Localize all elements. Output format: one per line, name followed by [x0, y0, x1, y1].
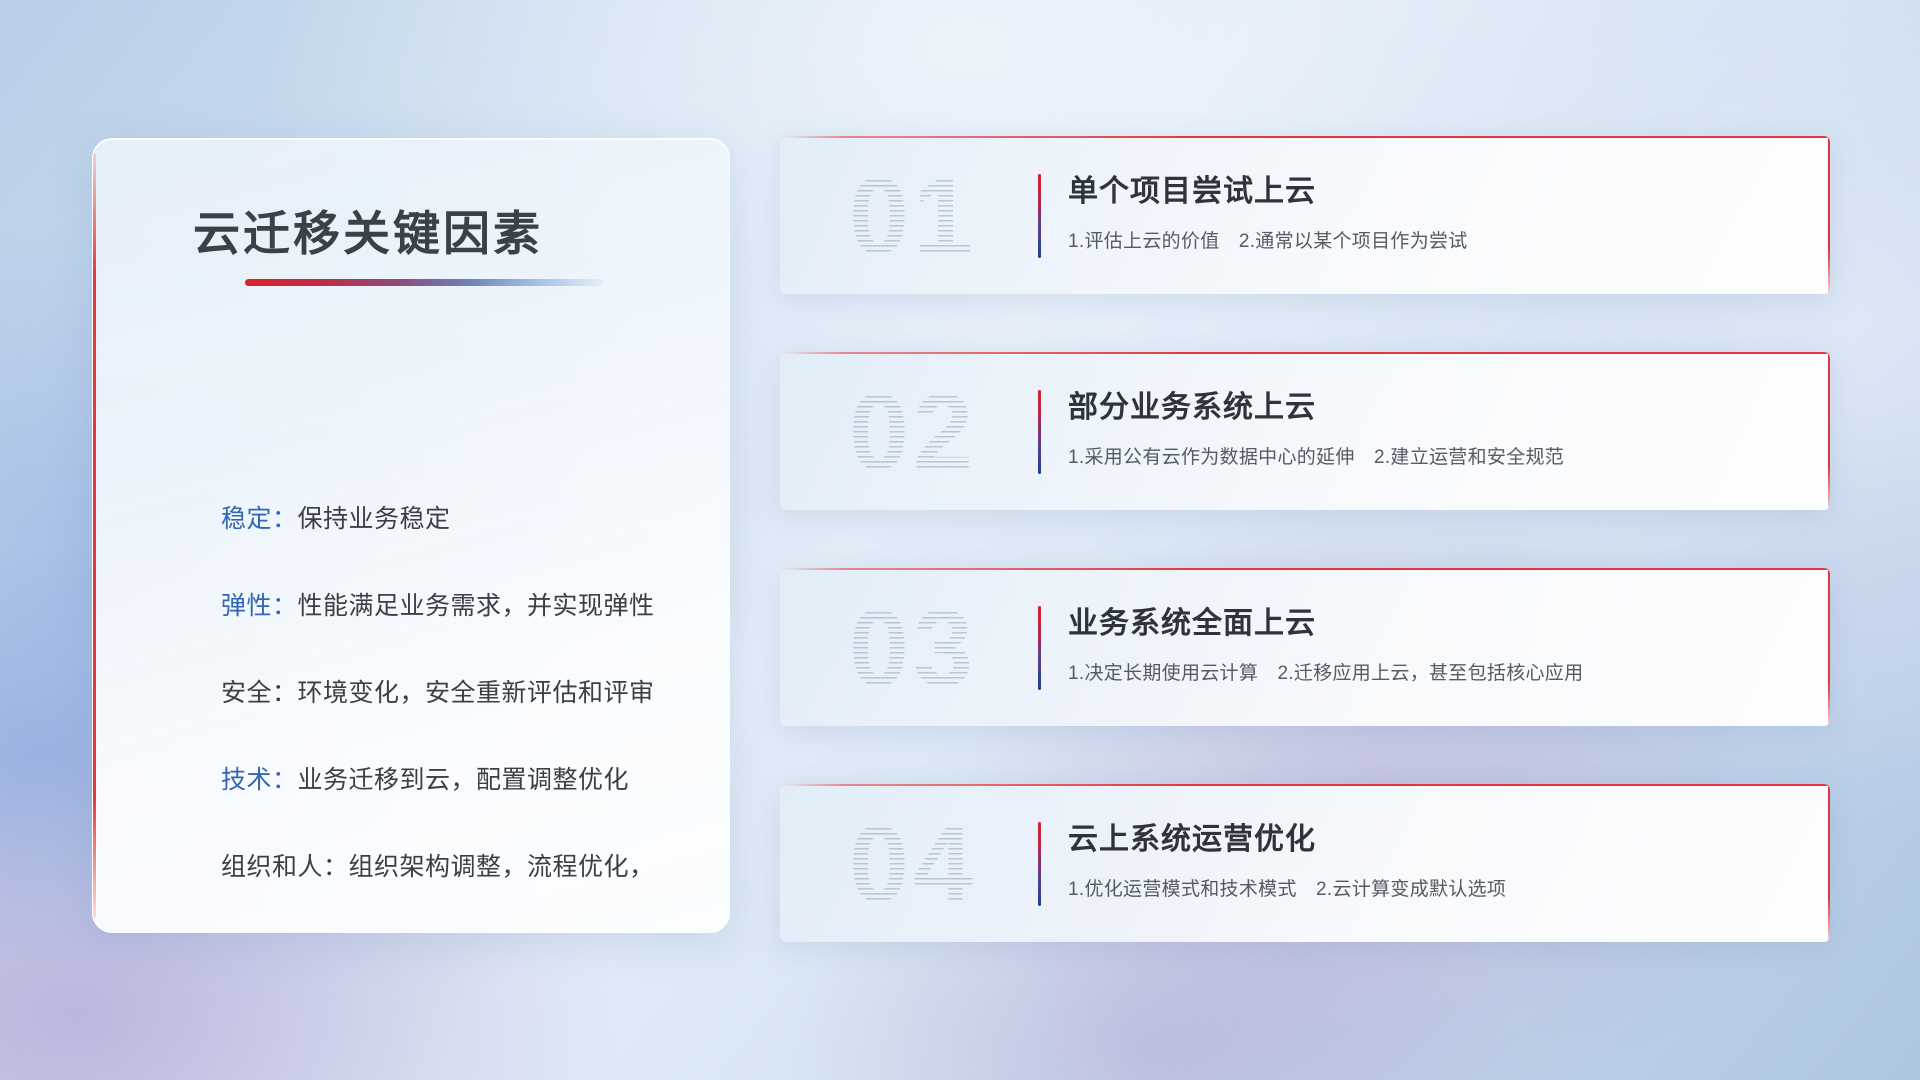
- key-factors-panel: 云迁移关键因素 稳定：保持业务稳定 弹性：性能满足业务需求，并实现弹性 安全：环…: [92, 138, 730, 933]
- stage-card: 02 部分业务系统上云 1.采用公有云作为数据中心的延伸 2.建立运营和安全规范: [780, 352, 1830, 510]
- stage-number: 03: [818, 582, 1008, 712]
- stage-divider-accent: [1038, 174, 1041, 258]
- stage-card-body: 云上系统运营优化 1.优化运营模式和技术模式 2.云计算变成默认选项: [1068, 814, 1790, 901]
- list-item-value: 保持业务稳定: [298, 505, 451, 533]
- stage-card: 04 云上系统运营优化 1.优化运营模式和技术模式 2.云计算变成默认选项: [780, 784, 1830, 942]
- stage-card-body: 业务系统全面上云 1.决定长期使用云计算 2.迁移应用上云，甚至包括核心应用: [1068, 598, 1790, 685]
- stage-title: 云上系统运营优化: [1068, 814, 1790, 858]
- stage-card: 03 业务系统全面上云 1.决定长期使用云计算 2.迁移应用上云，甚至包括核心应…: [780, 568, 1830, 726]
- stage-card: 01 单个项目尝试上云 1.评估上云的价值 2.通常以某个项目作为尝试: [780, 136, 1830, 294]
- list-item-value: 业务迁移到云，配置调整优化: [298, 766, 630, 794]
- stage-card-list: 01 单个项目尝试上云 1.评估上云的价值 2.通常以某个项目作为尝试 02 部…: [780, 136, 1830, 942]
- stage-title: 业务系统全面上云: [1068, 598, 1790, 642]
- stage-number: 02: [818, 366, 1008, 496]
- list-item: 安全：环境变化，安全重新评估和评审: [221, 681, 689, 706]
- stage-card-body: 部分业务系统上云 1.采用公有云作为数据中心的延伸 2.建立运营和安全规范: [1068, 382, 1790, 469]
- list-item-value: 环境变化，安全重新评估和评审: [298, 679, 655, 707]
- stage-number: 04: [818, 798, 1008, 928]
- stage-divider-accent: [1038, 606, 1041, 690]
- list-item-key: 弹性：: [221, 592, 298, 620]
- list-item: 组织和人：组织架构调整，流程优化，: [221, 855, 689, 880]
- list-item-key: 安全：: [221, 679, 298, 707]
- list-item-key: 稳定：: [221, 505, 298, 533]
- stage-description: 1.采用公有云作为数据中心的延伸 2.建立运营和安全规范: [1068, 442, 1790, 469]
- page-title: 云迁移关键因素: [193, 195, 543, 264]
- key-factors-list: 稳定：保持业务稳定 弹性：性能满足业务需求，并实现弹性 安全：环境变化，安全重新…: [221, 507, 689, 933]
- stage-number: 01: [818, 150, 1008, 280]
- stage-description: 1.决定长期使用云计算 2.迁移应用上云，甚至包括核心应用: [1068, 658, 1790, 685]
- list-item: 技术：业务迁移到云，配置调整优化: [221, 768, 689, 793]
- stage-divider-accent: [1038, 390, 1041, 474]
- list-item-key: 技术：: [221, 766, 298, 794]
- list-item-key: 组织和人：: [221, 853, 349, 881]
- list-item-value: 组织架构调整，流程优化，: [349, 853, 655, 881]
- list-item: 弹性：性能满足业务需求，并实现弹性: [221, 594, 689, 619]
- list-item: 稳定：保持业务稳定: [221, 507, 689, 532]
- stage-description: 1.优化运营模式和技术模式 2.云计算变成默认选项: [1068, 874, 1790, 901]
- stage-description: 1.评估上云的价值 2.通常以某个项目作为尝试: [1068, 226, 1790, 253]
- stage-divider-accent: [1038, 822, 1041, 906]
- list-item-value: 性能满足业务需求，并实现弹性: [298, 592, 655, 620]
- slide-canvas: 云迁移关键因素 稳定：保持业务稳定 弹性：性能满足业务需求，并实现弹性 安全：环…: [0, 0, 1920, 1080]
- stage-title: 部分业务系统上云: [1068, 382, 1790, 426]
- stage-title: 单个项目尝试上云: [1068, 166, 1790, 210]
- stage-card-body: 单个项目尝试上云 1.评估上云的价值 2.通常以某个项目作为尝试: [1068, 166, 1790, 253]
- title-underline-accent: [245, 279, 603, 286]
